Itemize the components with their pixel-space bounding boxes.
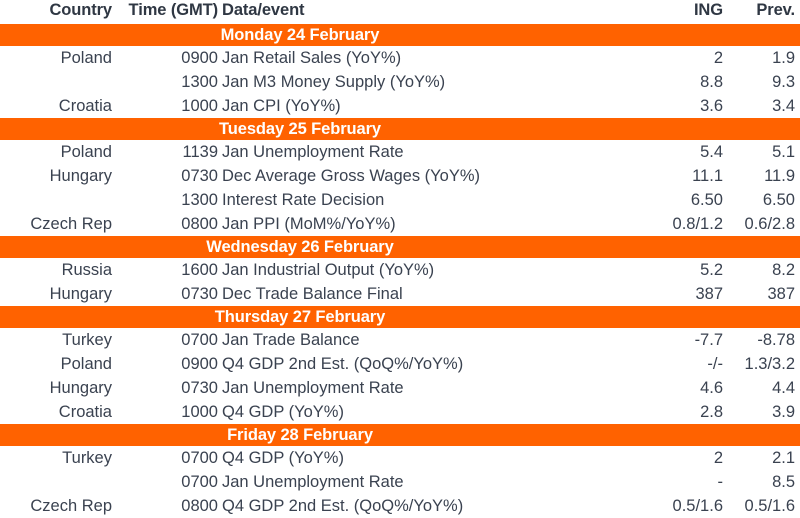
day-section-label: Wednesday 26 February (0, 236, 600, 258)
event-country: Turkey (0, 446, 115, 470)
event-previous-value: 8.5 (728, 470, 800, 494)
event-previous-value: -8.78 (728, 328, 800, 352)
event-ing-forecast: 6.50 (650, 188, 728, 212)
table-row: Poland0900Q4 GDP 2nd Est. (QoQ%/YoY%)-/-… (0, 352, 800, 376)
event-country: Hungary (0, 376, 115, 400)
event-country: Hungary (0, 164, 115, 188)
event-time: 0700 (115, 446, 222, 470)
event-previous-value: 4.4 (728, 376, 800, 400)
event-ing-forecast: 11.1 (650, 164, 728, 188)
event-previous-value: 8.2 (728, 258, 800, 282)
event-ing-forecast: 3.6 (650, 94, 728, 118)
event-previous-value: 0.6/2.8 (728, 212, 800, 236)
event-ing-forecast: 4.6 (650, 376, 728, 400)
table-row: Turkey0700Q4 GDP (YoY%)22.1 (0, 446, 800, 470)
table-row: Czech Rep0800Q4 GDP 2nd Est. (QoQ%/YoY%)… (0, 494, 800, 518)
event-country: Hungary (0, 282, 115, 306)
table-row: Poland1139Jan Unemployment Rate5.45.1 (0, 140, 800, 164)
event-description: Jan Trade Balance (222, 328, 650, 352)
table-row: Croatia1000Q4 GDP (YoY%)2.83.9 (0, 400, 800, 424)
table-row: Poland0900Jan Retail Sales (YoY%)21.9 (0, 46, 800, 70)
table-row: Hungary0730Dec Average Gross Wages (YoY%… (0, 164, 800, 188)
event-description: Q4 GDP 2nd Est. (QoQ%/YoY%) (222, 494, 650, 518)
event-time: 1600 (115, 258, 222, 282)
day-section-header-cell: Thursday 27 February (0, 306, 800, 328)
day-section-header-cell: Tuesday 25 February (0, 118, 800, 140)
event-previous-value: 3.4 (728, 94, 800, 118)
event-time: 1300 (115, 188, 222, 212)
event-time: 1139 (115, 140, 222, 164)
event-previous-value: 0.5/1.6 (728, 494, 800, 518)
event-country: Croatia (0, 94, 115, 118)
event-country: Czech Rep (0, 494, 115, 518)
event-description: Q4 GDP 2nd Est. (QoQ%/YoY%) (222, 352, 650, 376)
column-header-event: Data/event (222, 0, 650, 24)
event-description: Dec Trade Balance Final (222, 282, 650, 306)
event-time: 0800 (115, 212, 222, 236)
event-country: Poland (0, 140, 115, 164)
event-ing-forecast: 0.5/1.6 (650, 494, 728, 518)
event-description: Q4 GDP (YoY%) (222, 400, 650, 424)
day-section-header: Thursday 27 February (0, 306, 800, 328)
event-description: Jan Retail Sales (YoY%) (222, 46, 650, 70)
table-header: Country Time (GMT) Data/event ING Prev. (0, 0, 800, 24)
day-section-label: Monday 24 February (0, 24, 600, 46)
event-country: Poland (0, 352, 115, 376)
event-description: Jan CPI (YoY%) (222, 94, 650, 118)
day-section-header: Tuesday 25 February (0, 118, 800, 140)
event-description: Jan M3 Money Supply (YoY%) (222, 70, 650, 94)
event-ing-forecast: 2 (650, 446, 728, 470)
event-time: 1000 (115, 94, 222, 118)
event-time: 0730 (115, 376, 222, 400)
day-section-label: Friday 28 February (0, 424, 600, 446)
event-time: 0900 (115, 352, 222, 376)
table-row: Turkey0700Jan Trade Balance-7.7-8.78 (0, 328, 800, 352)
day-section-header-cell: Monday 24 February (0, 24, 800, 46)
event-time: 0730 (115, 282, 222, 306)
event-ing-forecast: - (650, 470, 728, 494)
event-ing-forecast: 387 (650, 282, 728, 306)
event-ing-forecast: 8.8 (650, 70, 728, 94)
table-row: 1300Jan M3 Money Supply (YoY%)8.89.3 (0, 70, 800, 94)
table-row: 1300Interest Rate Decision6.506.50 (0, 188, 800, 212)
event-description: Dec Average Gross Wages (YoY%) (222, 164, 650, 188)
table-row: 0700Jan Unemployment Rate-8.5 (0, 470, 800, 494)
event-country (0, 70, 115, 94)
event-description: Jan Unemployment Rate (222, 470, 650, 494)
column-header-country: Country (0, 0, 115, 24)
day-section-header-cell: Friday 28 February (0, 424, 800, 446)
event-time: 0730 (115, 164, 222, 188)
event-country: Turkey (0, 328, 115, 352)
event-ing-forecast: 2.8 (650, 400, 728, 424)
event-time: 1000 (115, 400, 222, 424)
event-previous-value: 3.9 (728, 400, 800, 424)
event-time: 0700 (115, 470, 222, 494)
event-time: 0900 (115, 46, 222, 70)
event-ing-forecast: 5.4 (650, 140, 728, 164)
day-section-header-cell: Wednesday 26 February (0, 236, 800, 258)
event-previous-value: 5.1 (728, 140, 800, 164)
event-description: Q4 GDP (YoY%) (222, 446, 650, 470)
event-description: Jan PPI (MoM%/YoY%) (222, 212, 650, 236)
table-row: Russia1600Jan Industrial Output (YoY%)5.… (0, 258, 800, 282)
event-time: 0700 (115, 328, 222, 352)
event-time: 1300 (115, 70, 222, 94)
event-country (0, 188, 115, 212)
economic-calendar-table: Country Time (GMT) Data/event ING Prev. … (0, 0, 800, 518)
event-country: Poland (0, 46, 115, 70)
table-row: Hungary0730Dec Trade Balance Final387387 (0, 282, 800, 306)
event-country: Czech Rep (0, 212, 115, 236)
table-row: Czech Rep0800Jan PPI (MoM%/YoY%)0.8/1.20… (0, 212, 800, 236)
event-description: Jan Unemployment Rate (222, 376, 650, 400)
event-previous-value: 9.3 (728, 70, 800, 94)
event-previous-value: 11.9 (728, 164, 800, 188)
column-header-ing: ING (650, 0, 728, 24)
event-country (0, 470, 115, 494)
event-time: 0800 (115, 494, 222, 518)
day-section-label: Tuesday 25 February (0, 118, 600, 140)
event-description: Jan Industrial Output (YoY%) (222, 258, 650, 282)
event-previous-value: 387 (728, 282, 800, 306)
event-country: Russia (0, 258, 115, 282)
table-row: Croatia1000Jan CPI (YoY%)3.63.4 (0, 94, 800, 118)
column-header-prev: Prev. (728, 0, 800, 24)
day-section-header: Wednesday 26 February (0, 236, 800, 258)
table-row: Hungary0730Jan Unemployment Rate4.64.4 (0, 376, 800, 400)
day-section-label: Thursday 27 February (0, 306, 600, 328)
event-ing-forecast: 0.8/1.2 (650, 212, 728, 236)
event-previous-value: 2.1 (728, 446, 800, 470)
event-country: Croatia (0, 400, 115, 424)
event-ing-forecast: 2 (650, 46, 728, 70)
event-ing-forecast: 5.2 (650, 258, 728, 282)
event-description: Interest Rate Decision (222, 188, 650, 212)
header-row: Country Time (GMT) Data/event ING Prev. (0, 0, 800, 24)
day-section-header: Friday 28 February (0, 424, 800, 446)
event-previous-value: 6.50 (728, 188, 800, 212)
event-ing-forecast: -7.7 (650, 328, 728, 352)
event-ing-forecast: -/- (650, 352, 728, 376)
event-description: Jan Unemployment Rate (222, 140, 650, 164)
event-previous-value: 1.3/3.2 (728, 352, 800, 376)
event-previous-value: 1.9 (728, 46, 800, 70)
column-header-time: Time (GMT) (115, 0, 222, 24)
day-section-header: Monday 24 February (0, 24, 800, 46)
table-body: Monday 24 FebruaryPoland0900Jan Retail S… (0, 24, 800, 518)
